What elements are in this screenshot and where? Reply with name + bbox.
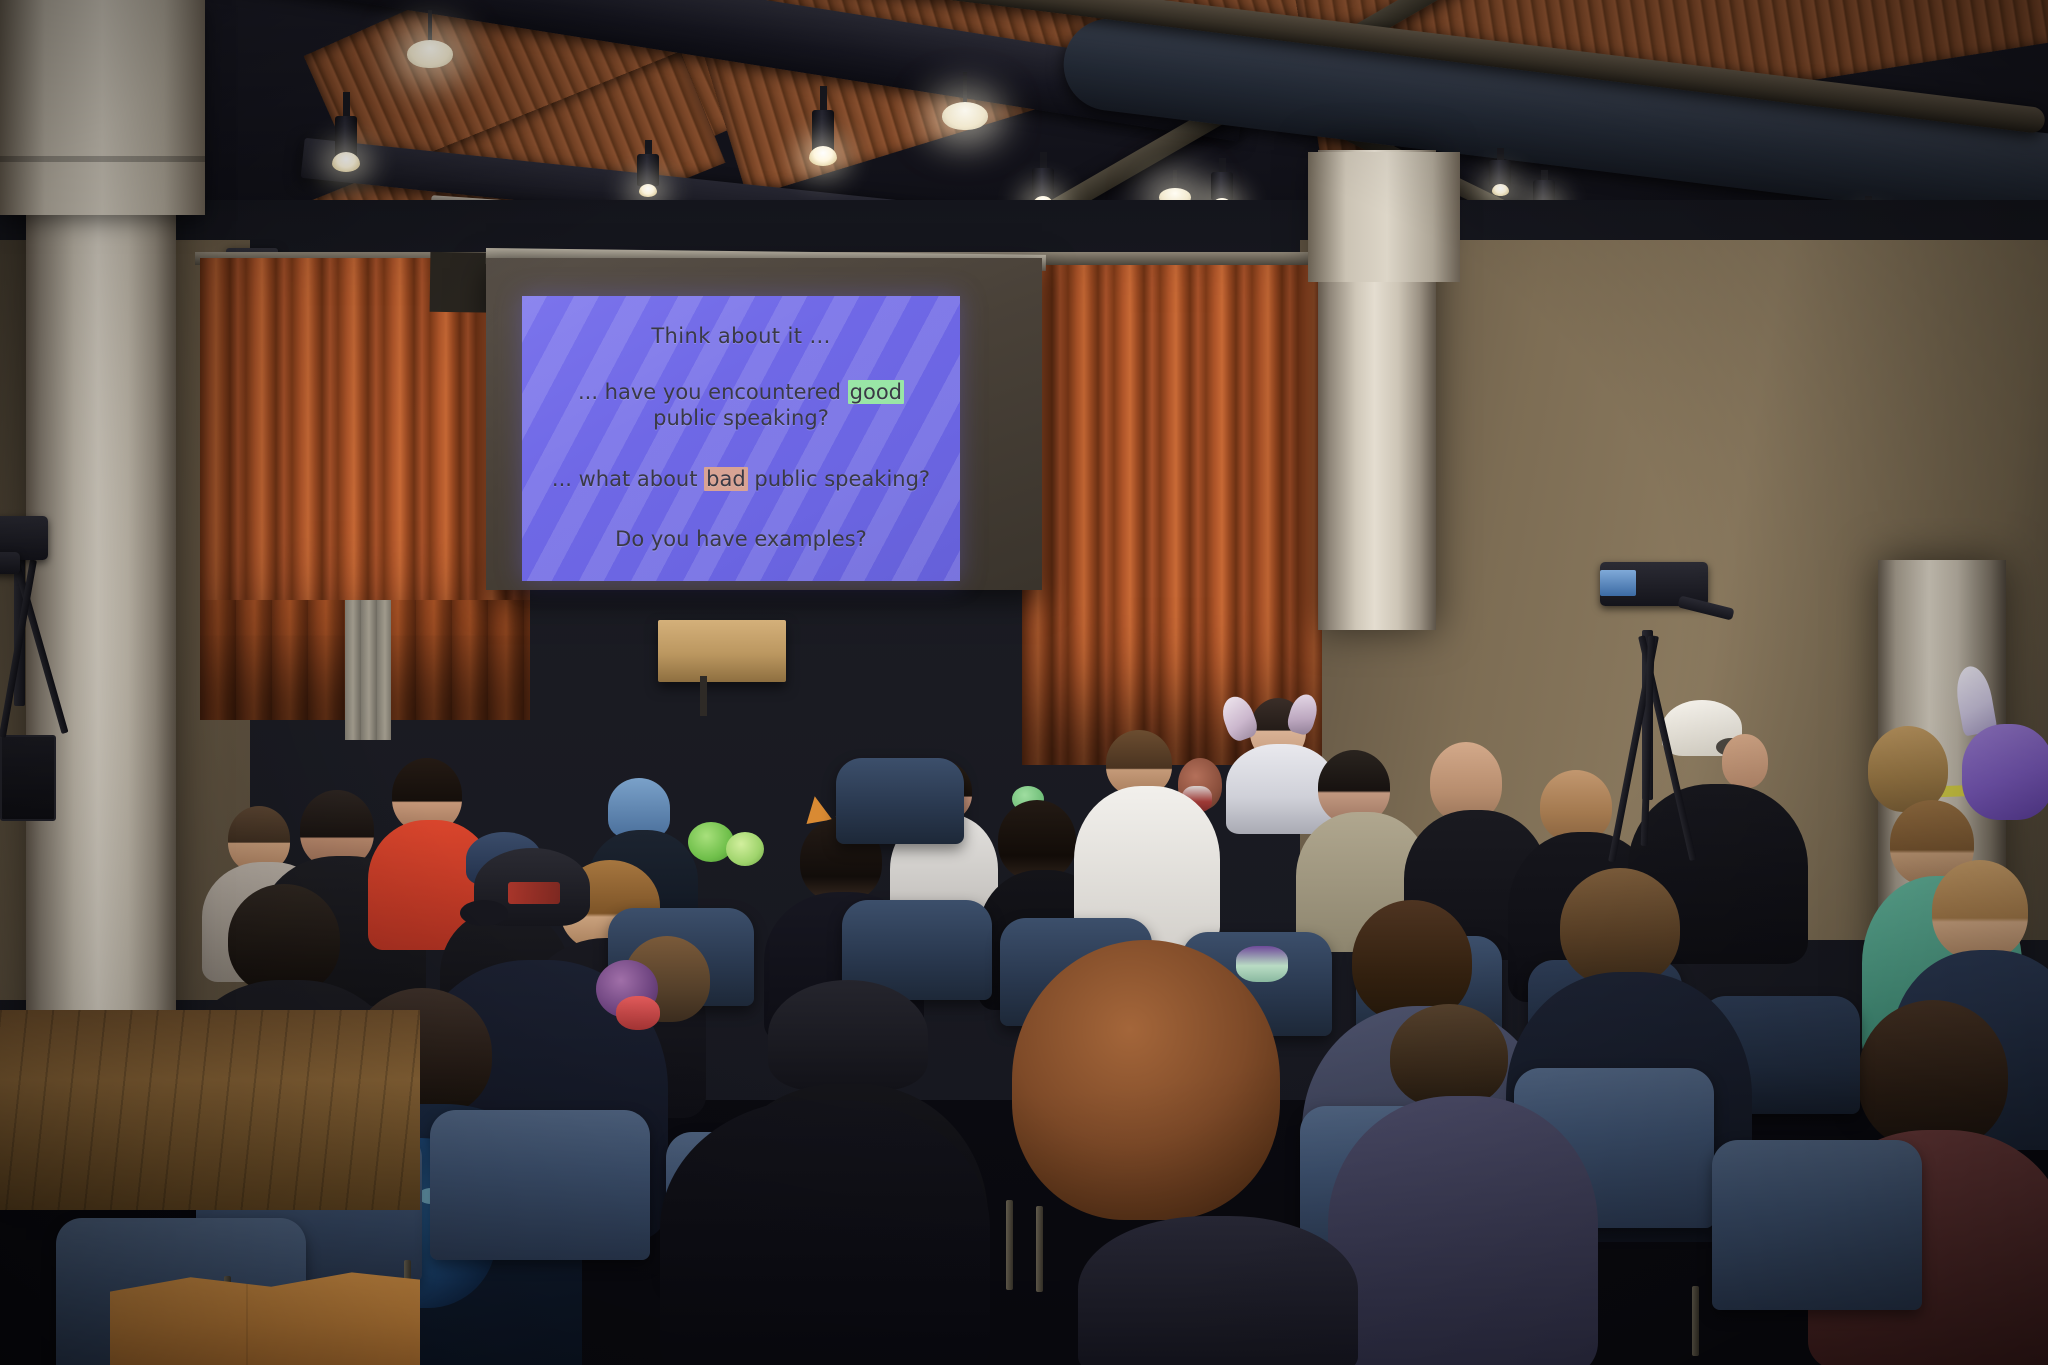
support-column-left-capital <box>0 0 205 215</box>
chair-leg <box>1692 1286 1699 1356</box>
cap-brim <box>460 900 508 926</box>
table-leg <box>700 676 707 716</box>
chair <box>836 758 964 844</box>
slide-title: Think about it ... <box>548 324 934 348</box>
red-plush-toy <box>616 996 660 1030</box>
green-plush-toy <box>726 832 764 866</box>
slide-line-2-post: public speaking? <box>748 467 930 491</box>
slide-line-2-pre: ... what about <box>552 467 704 491</box>
fursuit-head <box>1962 724 2048 820</box>
conference-photo-scene: Think about it ... ... have you encounte… <box>0 0 2048 1365</box>
slide-line-1-post: public speaking? <box>653 406 829 430</box>
chair-leg <box>1036 1206 1043 1292</box>
presenter-table <box>658 620 786 682</box>
slide-highlight-bad: bad <box>704 467 748 491</box>
slide-line-1: ... have you encountered good public spe… <box>548 380 934 431</box>
purple-green-headband <box>1236 946 1288 982</box>
slide-highlight-good: good <box>848 380 904 404</box>
presentation-slide: Think about it ... ... have you encounte… <box>522 296 960 581</box>
wooden-floor <box>0 1010 420 1210</box>
stage-curtain-grey-panel <box>345 600 391 740</box>
chair-leg <box>1006 1200 1013 1290</box>
support-column-right-capital <box>1308 152 1460 282</box>
cap-logo <box>508 882 560 904</box>
black-cap-front <box>768 980 928 1090</box>
slide-line-3: Do you have examples? <box>548 527 934 553</box>
slide-line-2: ... what about bad public speaking? <box>548 467 934 493</box>
chair-front <box>430 1110 650 1260</box>
camcorder-lcd-screen <box>1600 570 1636 596</box>
chair-front <box>1712 1140 1922 1310</box>
slide-line-1-pre: ... have you encountered <box>578 380 848 404</box>
black-crate <box>0 735 56 821</box>
camera-lens <box>0 552 20 574</box>
stage-curtain <box>1022 265 1322 765</box>
